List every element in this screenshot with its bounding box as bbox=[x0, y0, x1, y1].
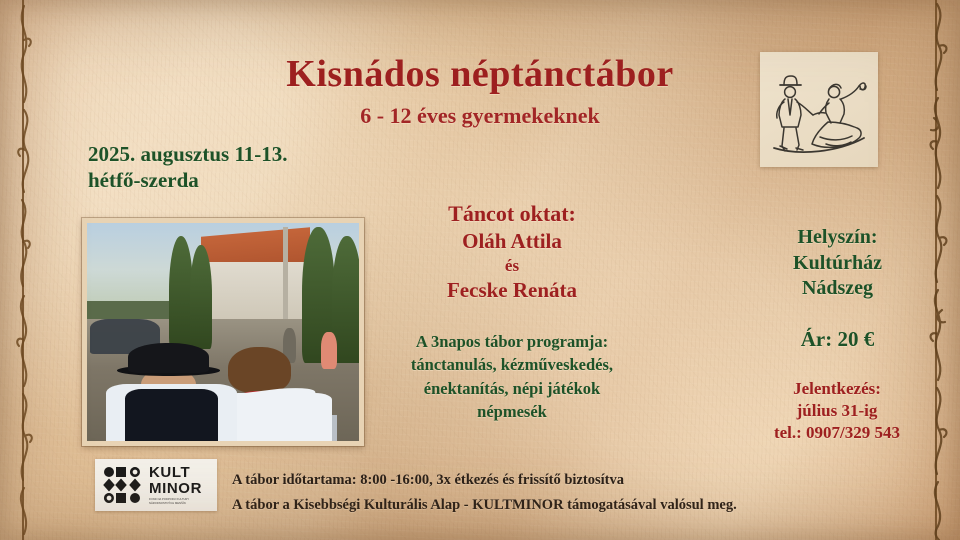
kultminor-grid-mark-icon bbox=[102, 465, 142, 505]
instructors-conjunction: és bbox=[358, 255, 666, 277]
poster-canvas: Kisnádos néptánctábor 6 - 12 éves gyerme… bbox=[0, 0, 960, 540]
poster-footer: A tábor időtartama: 8:00 -16:00, 3x étke… bbox=[232, 468, 737, 517]
photo-boy-dark-vest bbox=[125, 389, 217, 441]
registration-block: Jelentkezés: július 31-ig tel.: 0907/329… bbox=[728, 378, 946, 444]
photo-house-wall bbox=[196, 262, 316, 319]
camp-date-line2: hétfő-szerda bbox=[88, 168, 288, 194]
photo-pole bbox=[283, 227, 288, 332]
kultminor-logo: KULT MINOR FOND NA PODPORU KULTÚRY NÁROD… bbox=[95, 459, 217, 511]
footer-line-2: A tábor a Kisebbségi Kulturális Alap - K… bbox=[232, 493, 737, 518]
kultminor-wordmark: KULT MINOR FOND NA PODPORU KULTÚRY NÁROD… bbox=[149, 465, 211, 506]
instructors-lead-label: Táncot oktat: bbox=[358, 200, 666, 228]
registration-phone[interactable]: tel.: 0907/329 543 bbox=[728, 422, 946, 444]
price-label: Ár: 20 € bbox=[735, 327, 940, 352]
venue-label: Helyszín: bbox=[735, 225, 940, 251]
venue-block: Helyszín: Kultúrház Nádszeg bbox=[735, 225, 940, 302]
photo-boy-black-hat bbox=[128, 343, 210, 374]
kultminor-word-kult: KULT bbox=[149, 465, 211, 480]
kultminor-word-minor: MINOR bbox=[149, 481, 211, 496]
dance-instructors-block: Táncot oktat: Oláh Attila és Fecske Rená… bbox=[358, 200, 666, 304]
footer-line-1: A tábor időtartama: 8:00 -16:00, 3x étke… bbox=[232, 468, 737, 493]
camp-date-block: 2025. augusztus 11-13. hétfő-szerda bbox=[88, 142, 288, 193]
photo-tree bbox=[190, 245, 212, 350]
folk-costume-children-photo bbox=[82, 218, 364, 446]
venue-line-1: Kultúrház bbox=[735, 251, 940, 277]
program-line-3: népmesék bbox=[350, 400, 674, 423]
photo-scene bbox=[87, 223, 359, 441]
instructor-name-2: Fecske Renáta bbox=[358, 277, 666, 304]
camp-date-line1: 2025. augusztus 11-13. bbox=[88, 142, 288, 168]
kultminor-micro-subtitle: FOND NA PODPORU KULTÚRY NÁRODNOSTNÝCH ME… bbox=[149, 498, 211, 506]
photo-girl-braided-hair bbox=[228, 347, 291, 393]
camp-program-block: A 3napos tábor programja: tánctanulás, k… bbox=[350, 330, 674, 424]
photo-background-person bbox=[321, 332, 337, 369]
program-heading: A 3napos tábor programja: bbox=[350, 330, 674, 353]
venue-line-2: Nádszeg bbox=[735, 276, 940, 302]
program-line-2: énektanítás, népi játékok bbox=[350, 377, 674, 400]
registration-label: Jelentkezés: bbox=[728, 378, 946, 400]
program-line-1: tánctanulás, kézműveskedés, bbox=[350, 353, 674, 376]
instructor-name-1: Oláh Attila bbox=[358, 228, 666, 255]
registration-deadline: július 31-ig bbox=[728, 400, 946, 422]
folk-dancing-couple-sketch-icon bbox=[760, 52, 878, 167]
